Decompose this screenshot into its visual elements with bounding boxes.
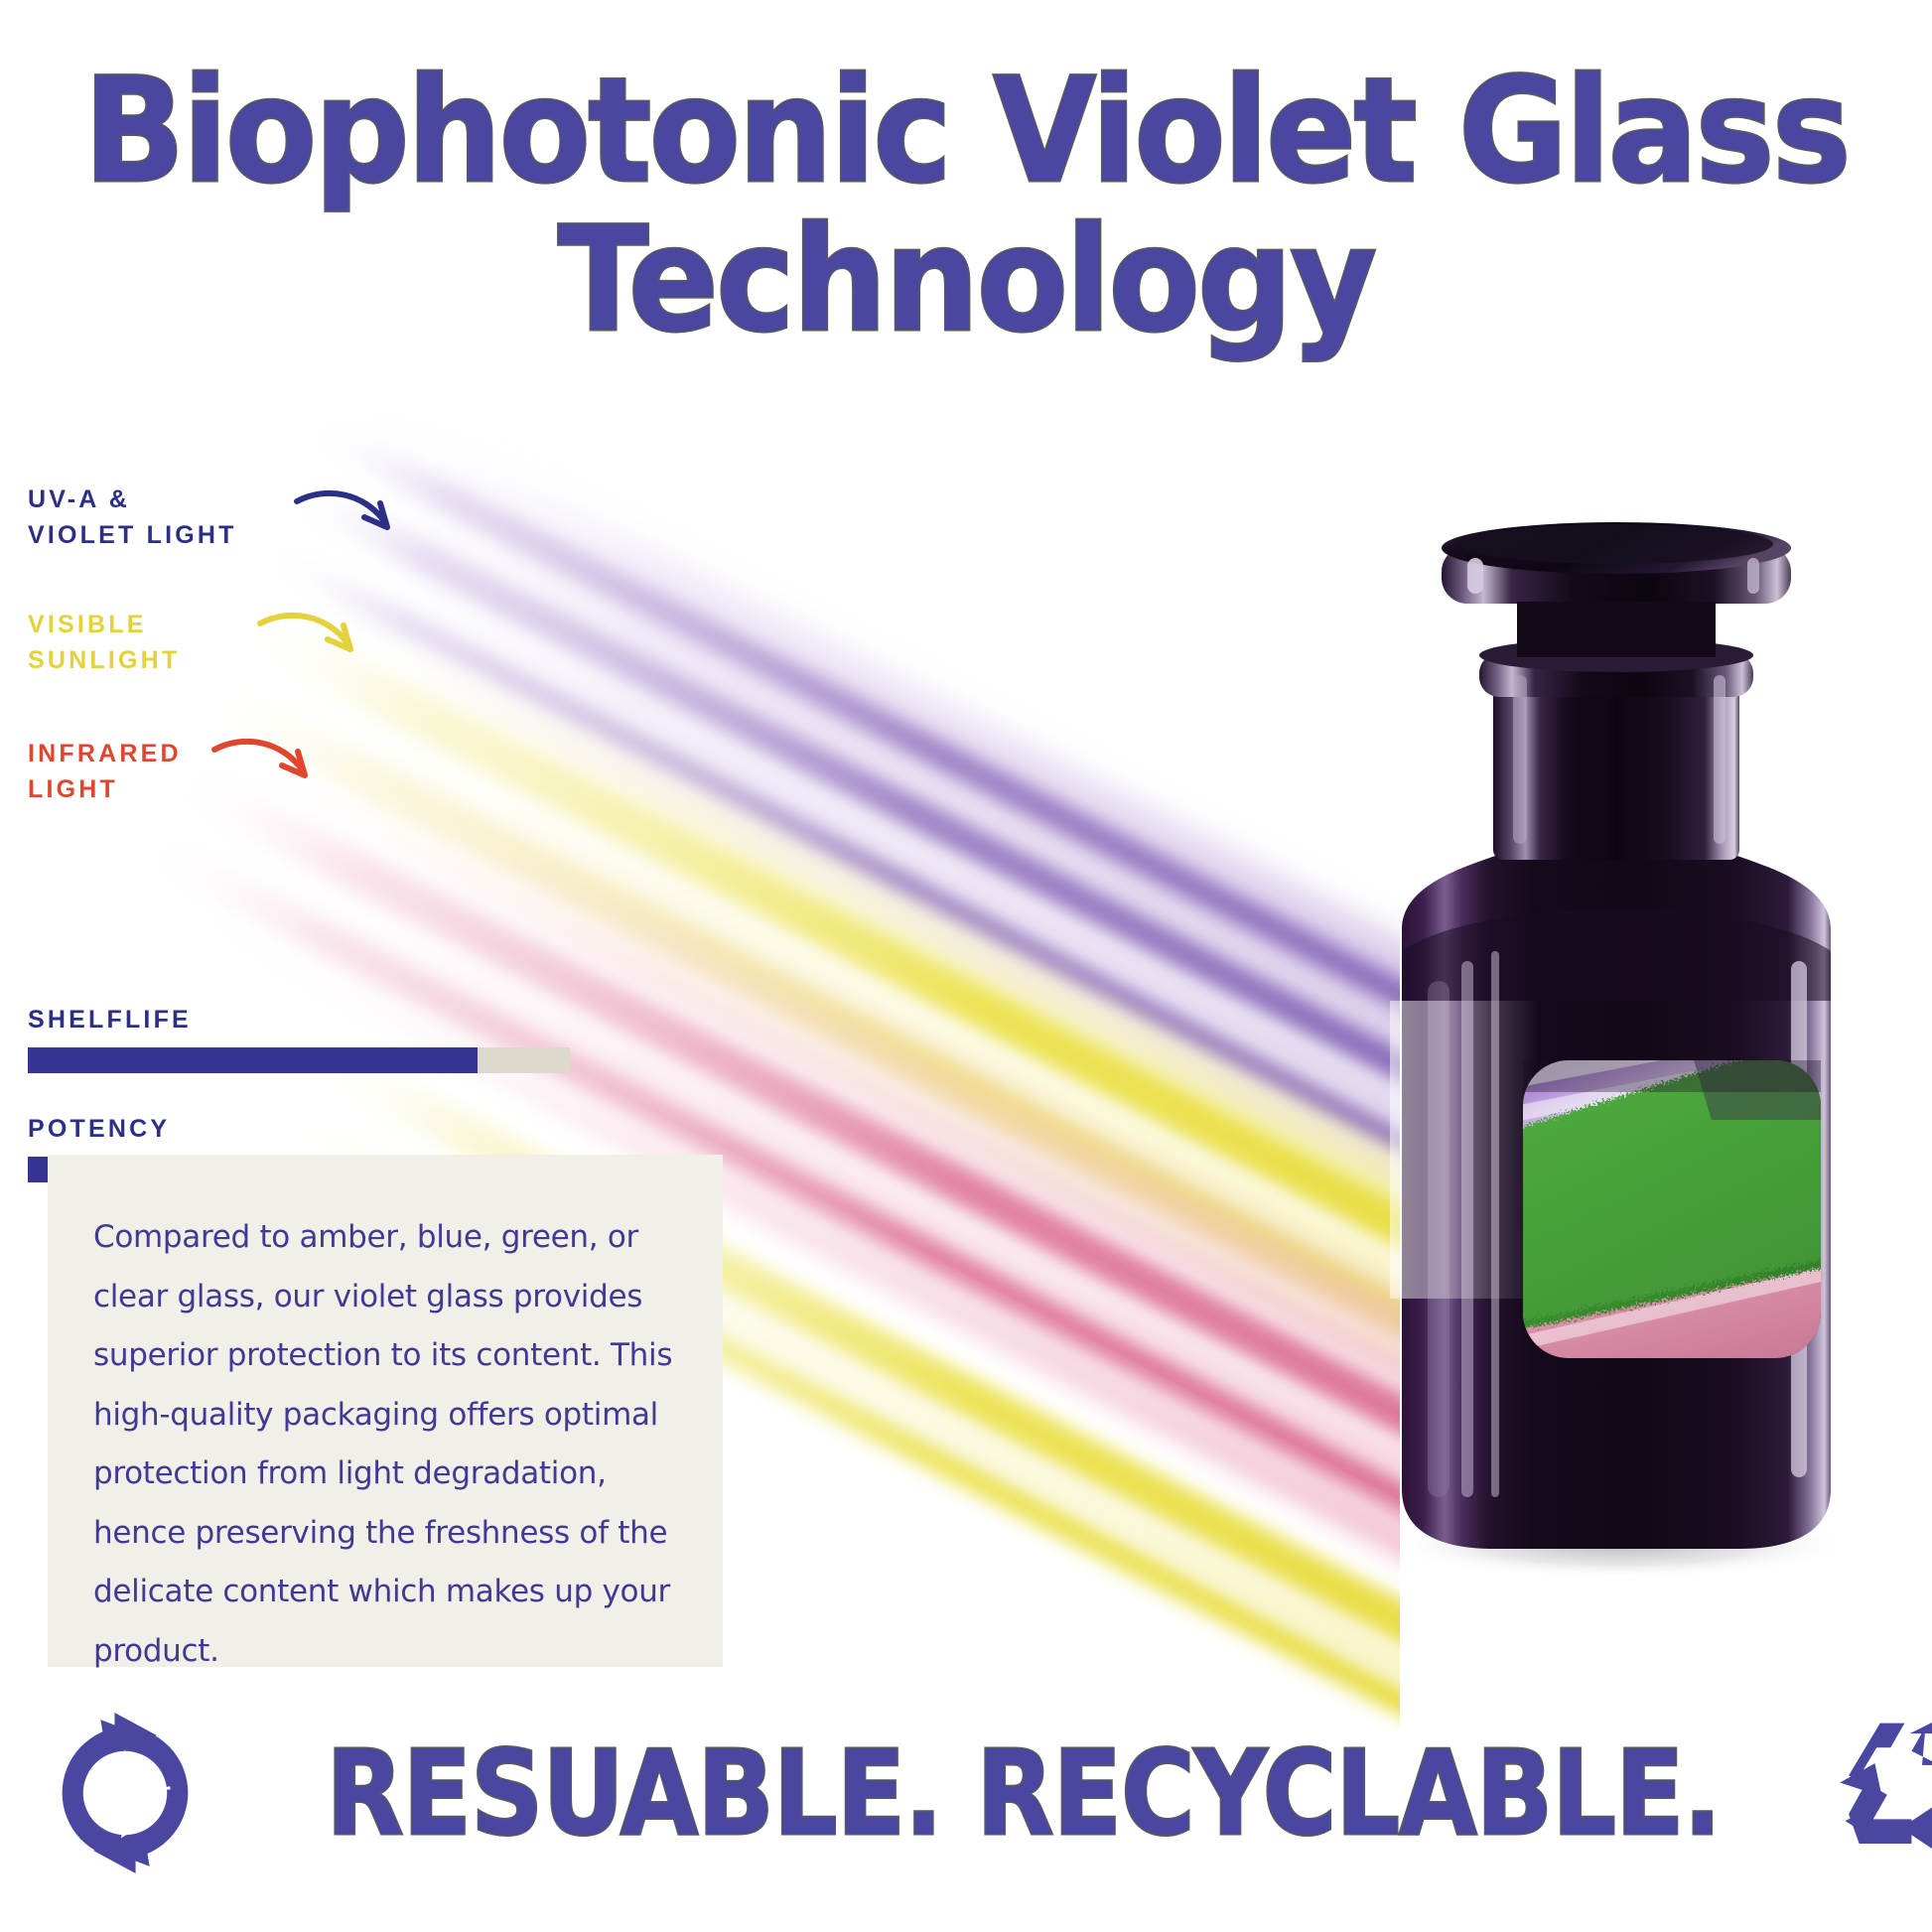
curved-arrow-icon-uv [293,482,402,551]
beam-label-infrared: INFRARED LIGHT [28,737,182,807]
description-text: Compared to amber, blue, green, or clear… [93,1208,679,1681]
infographic-canvas: Biophotonic Violet Glass Technology UV-A… [0,0,1932,1932]
footer-bar: RESUABLE. RECYCLABLE. [0,1694,1932,1892]
curved-arrow-icon-visible [256,604,365,673]
bottle-cap-stem [1517,602,1716,657]
cap-highlight-left [1467,558,1483,594]
beam-label-uv-violet: UV-A & VIOLET LIGHT [28,483,237,553]
meter-shelflife: SHELFLIFE [28,1006,570,1073]
recycle-mobius-icon [1835,1706,1932,1880]
violet-glass-bottle [1342,484,1898,1587]
bottle-light-glow [1390,1001,1539,1299]
meter-fill-shelflife [28,1047,478,1073]
meter-label-shelflife: SHELFLIFE [28,1006,570,1035]
curved-arrow-icon-infrared [210,730,320,799]
neck-highlight-right [1714,675,1725,844]
neck-highlight-left [1513,675,1527,844]
meter-label-potency: POTENCY [28,1115,570,1144]
bottle-neck [1493,669,1739,860]
meter-track-shelflife [28,1047,570,1073]
description-card: Compared to amber, blue, green, or clear… [48,1155,723,1667]
title-line-1: Biophotonic Violet Glass [77,62,1855,203]
page-title: Biophotonic Violet Glass Technology [0,62,1932,350]
cap-highlight-right [1747,558,1759,594]
bottle-cap-inner [1459,524,1773,564]
title-line-2: Technology [77,210,1855,351]
beam-label-visible-sunlight: VISIBLE SUNLIGHT [28,608,180,678]
footer-headline: RESUABLE. RECYCLABLE. [326,1734,1721,1852]
reuse-circular-arrows-icon [38,1706,212,1880]
